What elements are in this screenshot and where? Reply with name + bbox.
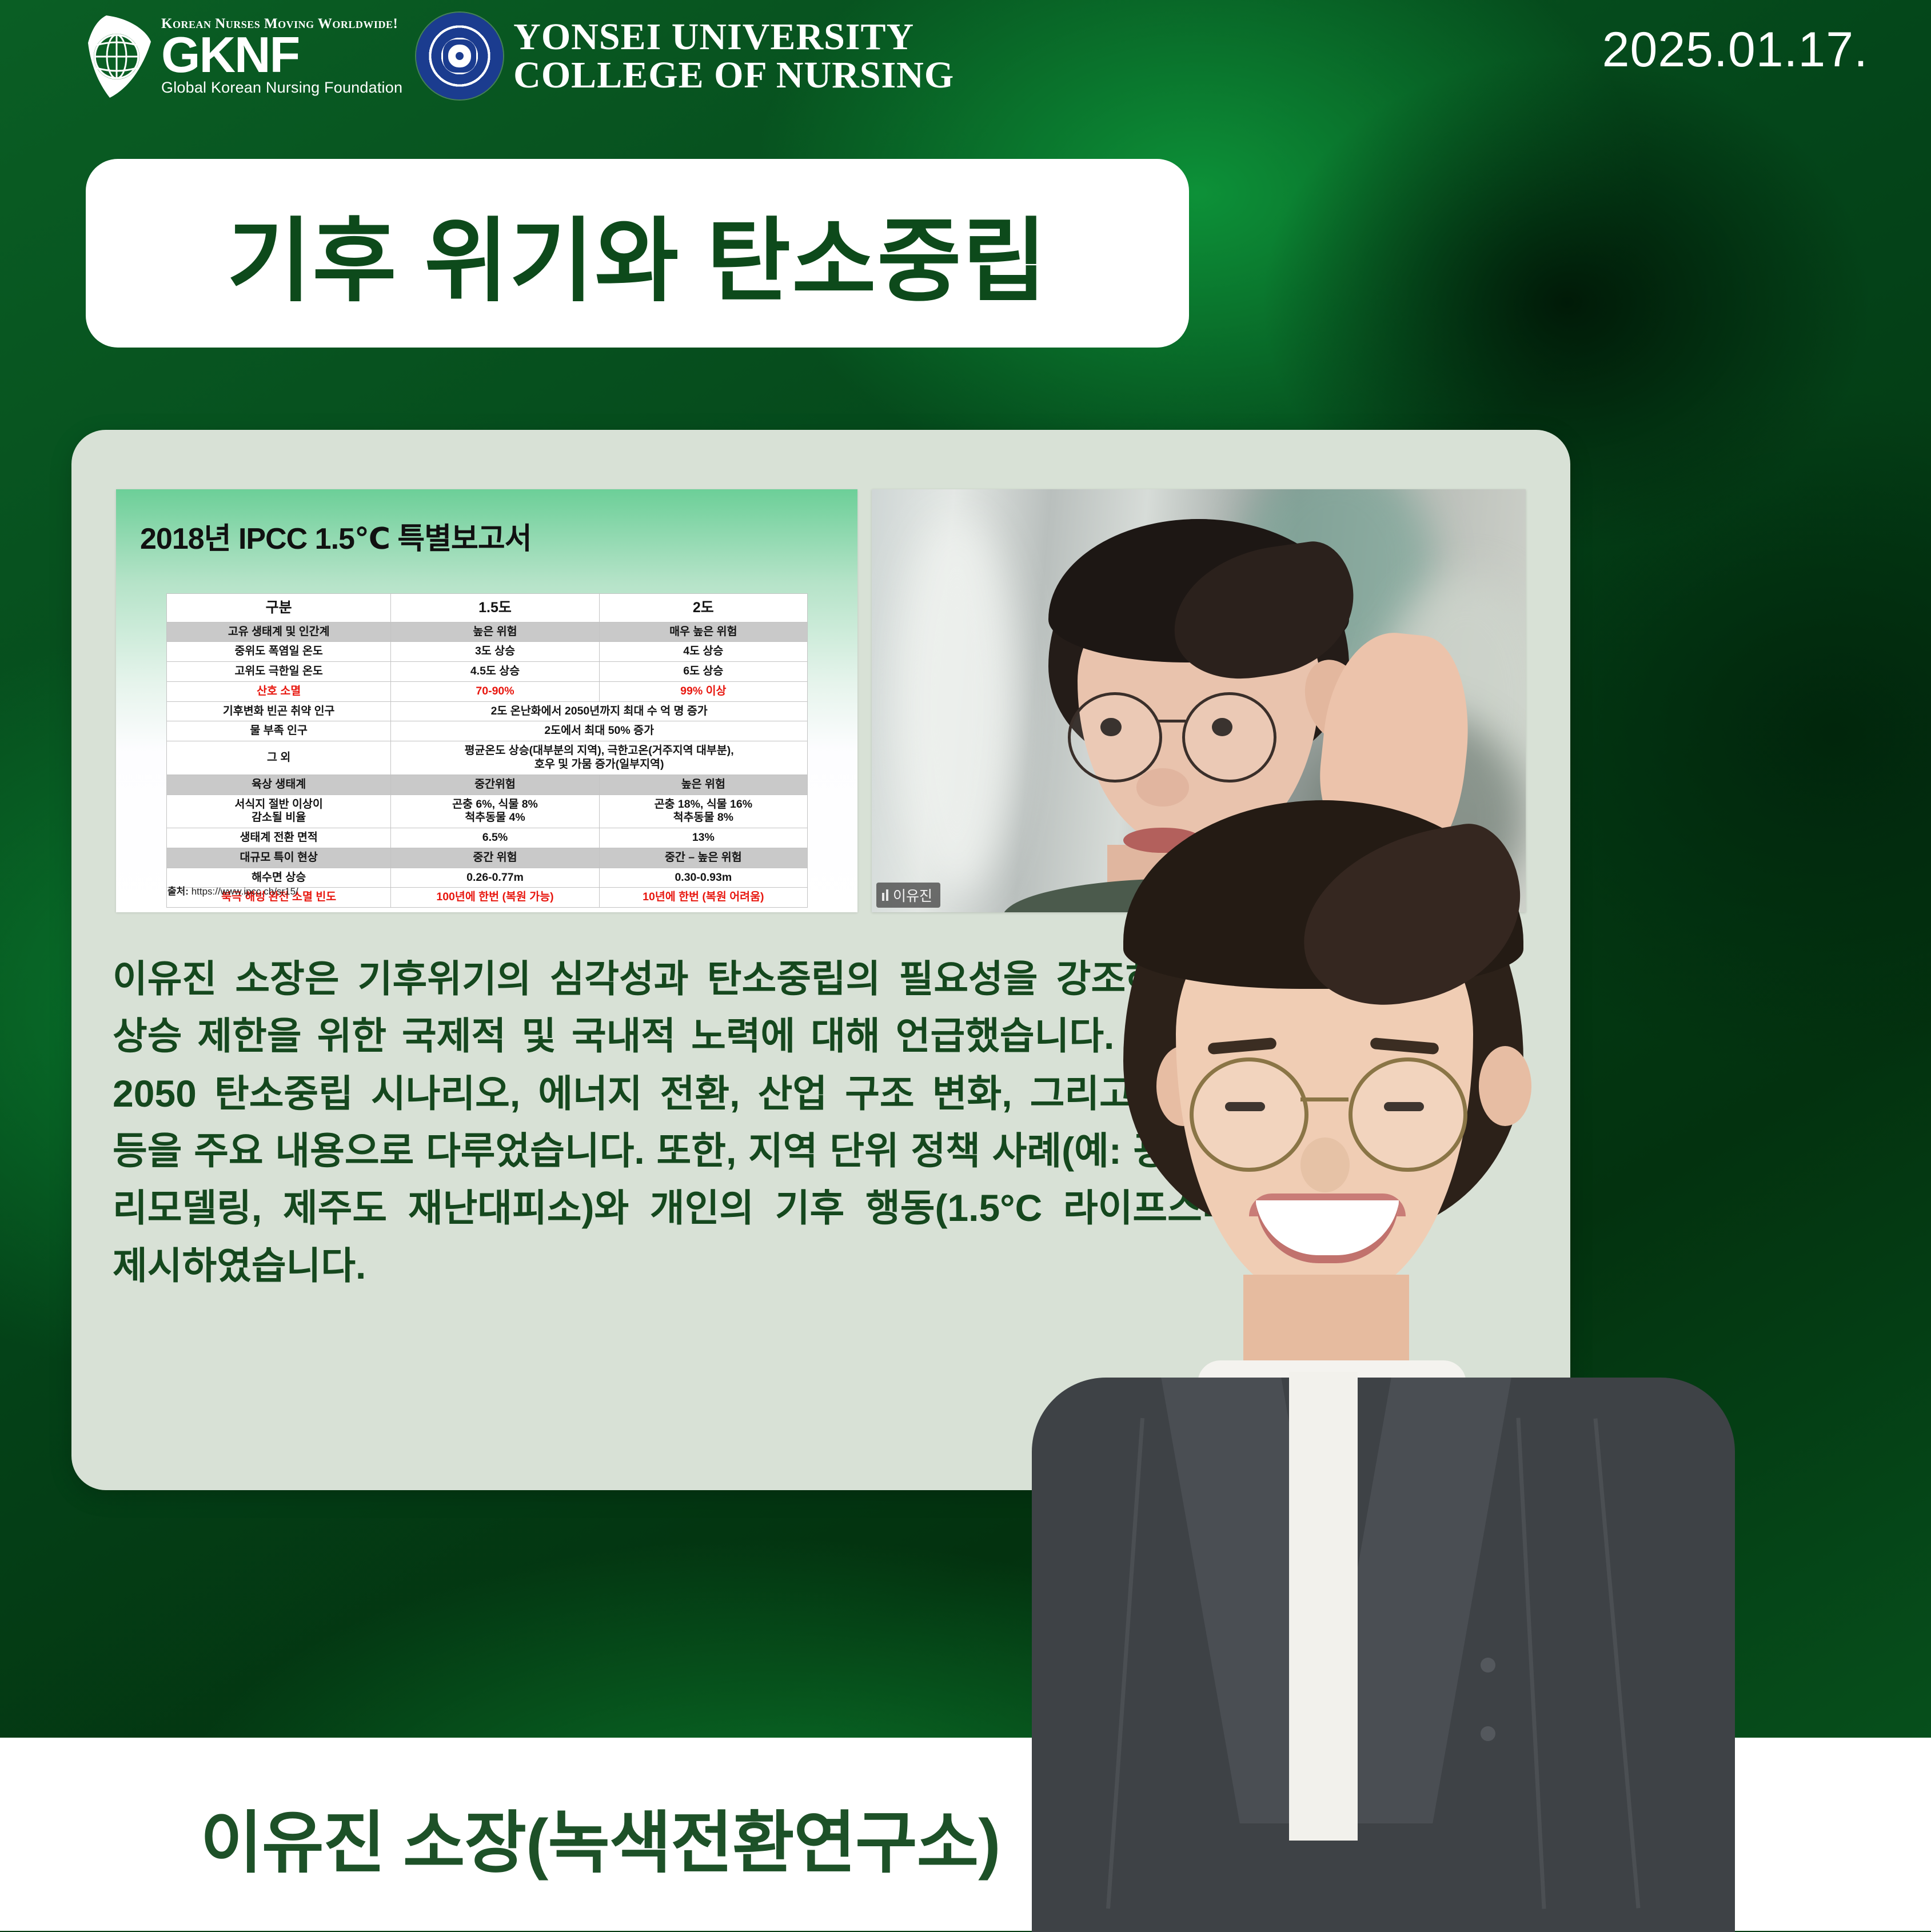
portrait-eyeglasses bbox=[1190, 1057, 1308, 1172]
video-blur-shape bbox=[898, 514, 1016, 895]
speaker-eyeglasses bbox=[1068, 692, 1162, 783]
video-nameplate-label: 이유진 bbox=[893, 885, 932, 905]
table-cell: 99% 이상 bbox=[599, 681, 807, 701]
speaker-caption: 이유진 소장(녹색전환연구소) bbox=[0, 1788, 1200, 1886]
gknf-acronym: GKNF bbox=[161, 32, 402, 78]
table-cell: 높은 위험 bbox=[599, 775, 807, 795]
table-cell: 1.5도 bbox=[391, 594, 599, 622]
yonsei-logo: YONSEI UNIVERSITY COLLEGE OF NURSING bbox=[416, 13, 954, 99]
table-cell: 6도 상승 bbox=[599, 662, 807, 682]
table-row: 기후변화 빈곤 취약 인구2도 온난화에서 2050년까지 최대 수 억 명 증… bbox=[167, 701, 808, 721]
table-cell: 중위도 폭염일 온도 bbox=[167, 642, 391, 662]
table-row: 대규모 특이 현상중간 위험중간 – 높은 위험 bbox=[167, 848, 808, 868]
table-cell: 대규모 특이 현상 bbox=[167, 848, 391, 868]
source-label: 출처: bbox=[167, 886, 189, 897]
table-cell: 2도 bbox=[599, 594, 807, 622]
table-row: 육상 생태계중간위험높은 위험 bbox=[167, 775, 808, 795]
table-cell: 2도 온난화에서 2050년까지 최대 수 억 명 증가 bbox=[391, 701, 808, 721]
table-row: 산호 소멸70-90%99% 이상 bbox=[167, 681, 808, 701]
ipcc-table: 구분1.5도2도고유 생태계 및 인간계높은 위험매우 높은 위험중위도 폭염일… bbox=[166, 593, 808, 908]
table-cell: 매우 높은 위험 bbox=[599, 622, 807, 642]
speaker-eyeglasses bbox=[1182, 692, 1276, 783]
table-row: 고유 생태계 및 인간계높은 위험매우 높은 위험 bbox=[167, 622, 808, 642]
table-header-row: 구분1.5도2도 bbox=[167, 594, 808, 622]
table-cell: 기후변화 빈곤 취약 인구 bbox=[167, 701, 391, 721]
table-cell: 13% bbox=[599, 828, 807, 848]
table-cell: 육상 생태계 bbox=[167, 775, 391, 795]
header-bar: Korean Nurses Moving Worldwide! GKNF Glo… bbox=[0, 0, 1931, 131]
portrait-button bbox=[1481, 1658, 1495, 1672]
portrait-nose bbox=[1300, 1137, 1350, 1192]
table-row: 서식지 절반 이상이감소될 비율곤충 6%, 식물 8%척추동물 4%곤충 18… bbox=[167, 795, 808, 828]
portrait-ear bbox=[1479, 1046, 1531, 1126]
page-title: 기후 위기와 탄소중립 bbox=[227, 187, 1048, 320]
logo-group: Korean Nurses Moving Worldwide! GKNF Glo… bbox=[80, 13, 954, 99]
table-cell: 곤충 18%, 식물 16%척추동물 8% bbox=[599, 795, 807, 828]
speaker-portrait bbox=[1055, 800, 1706, 1931]
table-cell: 중간 위험 bbox=[391, 848, 599, 868]
table-row: 중위도 폭염일 온도3도 상승4도 상승 bbox=[167, 642, 808, 662]
slide-title: 2018년 IPCC 1.5℃ 특별보고서 bbox=[140, 514, 532, 557]
microphone-bars-icon bbox=[882, 889, 888, 901]
portrait-button bbox=[1481, 1726, 1495, 1741]
portrait-eyeglasses bbox=[1348, 1057, 1467, 1172]
table-row: 물 부족 인구2도에서 최대 50% 증가 bbox=[167, 721, 808, 741]
speaker-eyeglasses-bridge bbox=[1156, 720, 1186, 722]
table-cell: 2도에서 최대 50% 증가 bbox=[391, 721, 808, 741]
gknf-logo: Korean Nurses Moving Worldwide! GKNF Glo… bbox=[80, 13, 402, 99]
ipcc-slide: 2018년 IPCC 1.5℃ 특별보고서 구분1.5도2도고유 생태계 및 인… bbox=[116, 489, 857, 912]
gknf-subtitle: Global Korean Nursing Foundation bbox=[161, 80, 402, 95]
globe-leaf-icon bbox=[80, 13, 155, 99]
table-cell: 6.5% bbox=[391, 828, 599, 848]
table-cell: 생태계 전환 면적 bbox=[167, 828, 391, 848]
table-cell: 물 부족 인구 bbox=[167, 721, 391, 741]
gknf-wordmark: Korean Nurses Moving Worldwide! GKNF Glo… bbox=[161, 17, 402, 96]
slide-source: 출처: https://www.ipcc.ch/sr15/ bbox=[167, 883, 298, 897]
table-row: 생태계 전환 면적6.5%13% bbox=[167, 828, 808, 848]
table-cell: 구분 bbox=[167, 594, 391, 622]
table-cell: 4.5도 상승 bbox=[391, 662, 599, 682]
source-url: https://www.ipcc.ch/sr15/ bbox=[191, 886, 298, 897]
date-label: 2025.01.17. bbox=[1602, 22, 1868, 78]
table-cell: 70-90% bbox=[391, 681, 599, 701]
table-row: 고위도 극한일 온도4.5도 상승6도 상승 bbox=[167, 662, 808, 682]
table-row: 그 외평균온도 상승(대부분의 지역), 극한고온(거주지역 대부분),호우 및… bbox=[167, 741, 808, 775]
table-cell: 중간 – 높은 위험 bbox=[599, 848, 807, 868]
table-cell: 중간위험 bbox=[391, 775, 599, 795]
table-cell: 고유 생태계 및 인간계 bbox=[167, 622, 391, 642]
table-cell: 4도 상승 bbox=[599, 642, 807, 662]
table-cell: 고위도 극한일 온도 bbox=[167, 662, 391, 682]
yonsei-seal-icon bbox=[416, 13, 503, 99]
table-cell: 3도 상승 bbox=[391, 642, 599, 662]
portrait-eyeglasses-bridge bbox=[1300, 1097, 1348, 1101]
title-card: 기후 위기와 탄소중립 bbox=[86, 159, 1189, 348]
table-cell: 평균온도 상승(대부분의 지역), 극한고온(거주지역 대부분),호우 및 가뭄… bbox=[391, 741, 808, 775]
table-cell: 100년에 한번 (복원 가능) bbox=[391, 888, 599, 908]
portrait-collar bbox=[1289, 1372, 1358, 1841]
table-cell: 산호 소멸 bbox=[167, 681, 391, 701]
table-cell: 10년에 한번 (복원 어려움) bbox=[599, 888, 807, 908]
yonsei-wordmark: YONSEI UNIVERSITY COLLEGE OF NURSING bbox=[513, 18, 954, 95]
table-cell: 곤충 6%, 식물 8%척추동물 4% bbox=[391, 795, 599, 828]
table-cell: 서식지 절반 이상이감소될 비율 bbox=[167, 795, 391, 828]
table-cell: 그 외 bbox=[167, 741, 391, 775]
yonsei-line1: YONSEI UNIVERSITY bbox=[513, 18, 954, 56]
yonsei-line2: COLLEGE OF NURSING bbox=[513, 56, 954, 94]
table-cell: 높은 위험 bbox=[391, 622, 599, 642]
table-cell: 0.26-0.77m bbox=[391, 868, 599, 888]
video-nameplate: 이유진 bbox=[876, 883, 940, 908]
table-cell: 0.30-0.93m bbox=[599, 868, 807, 888]
